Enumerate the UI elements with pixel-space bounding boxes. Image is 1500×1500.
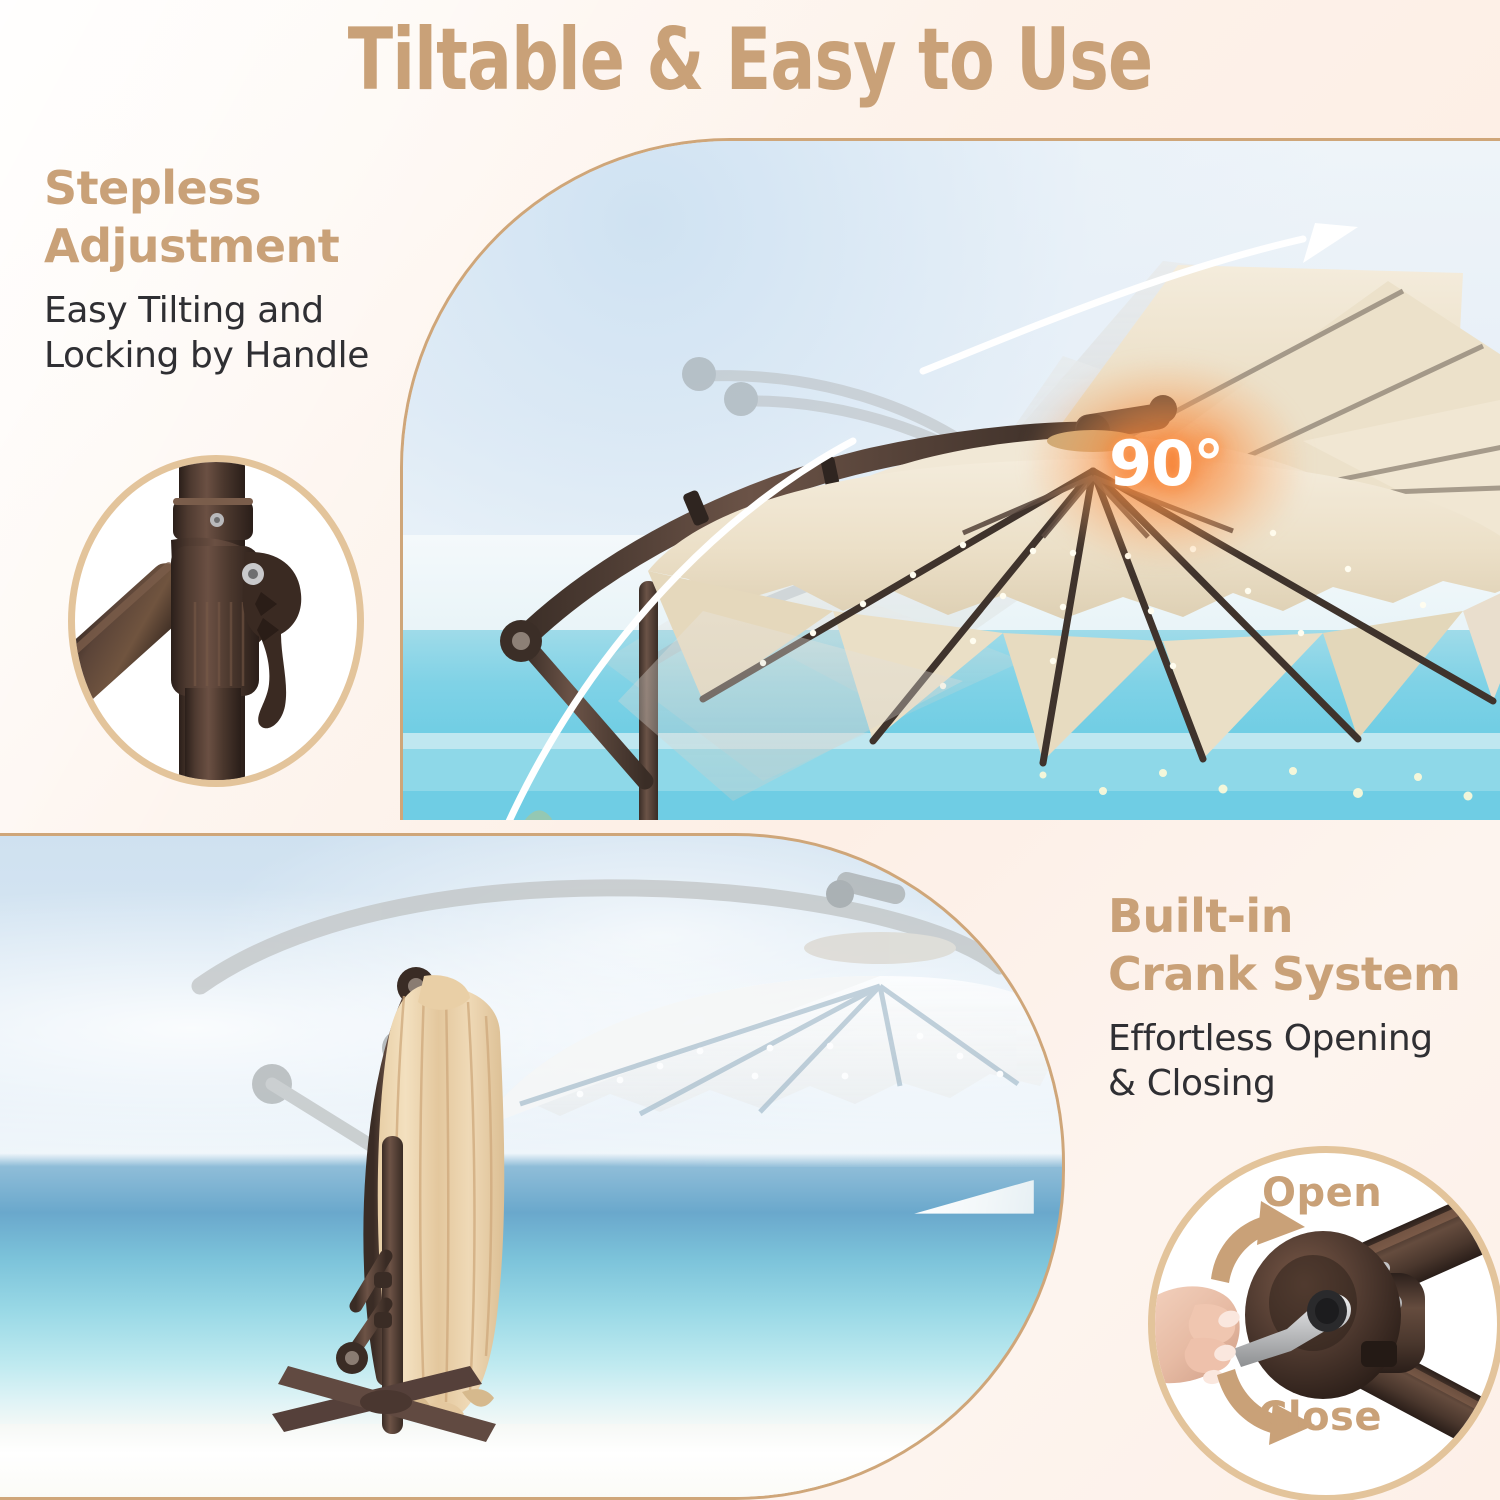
closed-umbrella-illustration bbox=[0, 836, 1065, 1500]
tilt-demo-panel: 90° bbox=[400, 138, 1500, 820]
tilt-demo-illustration bbox=[403, 141, 1500, 820]
tilt-handle-inset bbox=[68, 455, 364, 787]
crank-close-label: Close bbox=[1258, 1394, 1382, 1440]
infographic-root: Tiltable & Easy to Use bbox=[0, 0, 1500, 1500]
heading-line-2: Crank System bbox=[1108, 946, 1498, 1004]
hand bbox=[1155, 1286, 1242, 1385]
feature-heading-crank: Built-in Crank System bbox=[1108, 888, 1498, 1004]
sub-line-2: & Closing bbox=[1108, 1061, 1498, 1106]
feature-text-crank: Built-in Crank System Effortless Opening… bbox=[1108, 888, 1498, 1107]
heading-line-1: Built-in bbox=[1108, 888, 1498, 946]
heading-line-1: Stepless bbox=[44, 160, 444, 218]
sea-strip bbox=[403, 733, 1500, 820]
feature-subtext-crank: Effortless Opening & Closing bbox=[1108, 1016, 1498, 1107]
tilt-angle-callout: 90° bbox=[1109, 427, 1223, 500]
crank-demo-panel bbox=[0, 833, 1065, 1500]
sub-line-2: Locking by Handle bbox=[44, 333, 444, 378]
ghost-open-umbrella bbox=[200, 870, 1065, 1166]
tilt-handle-closeup bbox=[75, 462, 359, 782]
feature-heading-stepless: Stepless Adjustment bbox=[44, 160, 444, 276]
page-title: Tiltable & Easy to Use bbox=[105, 10, 1395, 110]
feature-subtext-stepless: Easy Tilting and Locking by Handle bbox=[44, 288, 444, 379]
crank-open-label: Open bbox=[1262, 1170, 1382, 1216]
heading-line-2: Adjustment bbox=[44, 218, 444, 276]
sub-line-1: Effortless Opening bbox=[1108, 1016, 1498, 1061]
sub-line-1: Easy Tilting and bbox=[44, 288, 444, 333]
feature-text-stepless: Stepless Adjustment Easy Tilting and Loc… bbox=[44, 160, 444, 379]
tilt-angle-label: 90° bbox=[1109, 427, 1223, 500]
